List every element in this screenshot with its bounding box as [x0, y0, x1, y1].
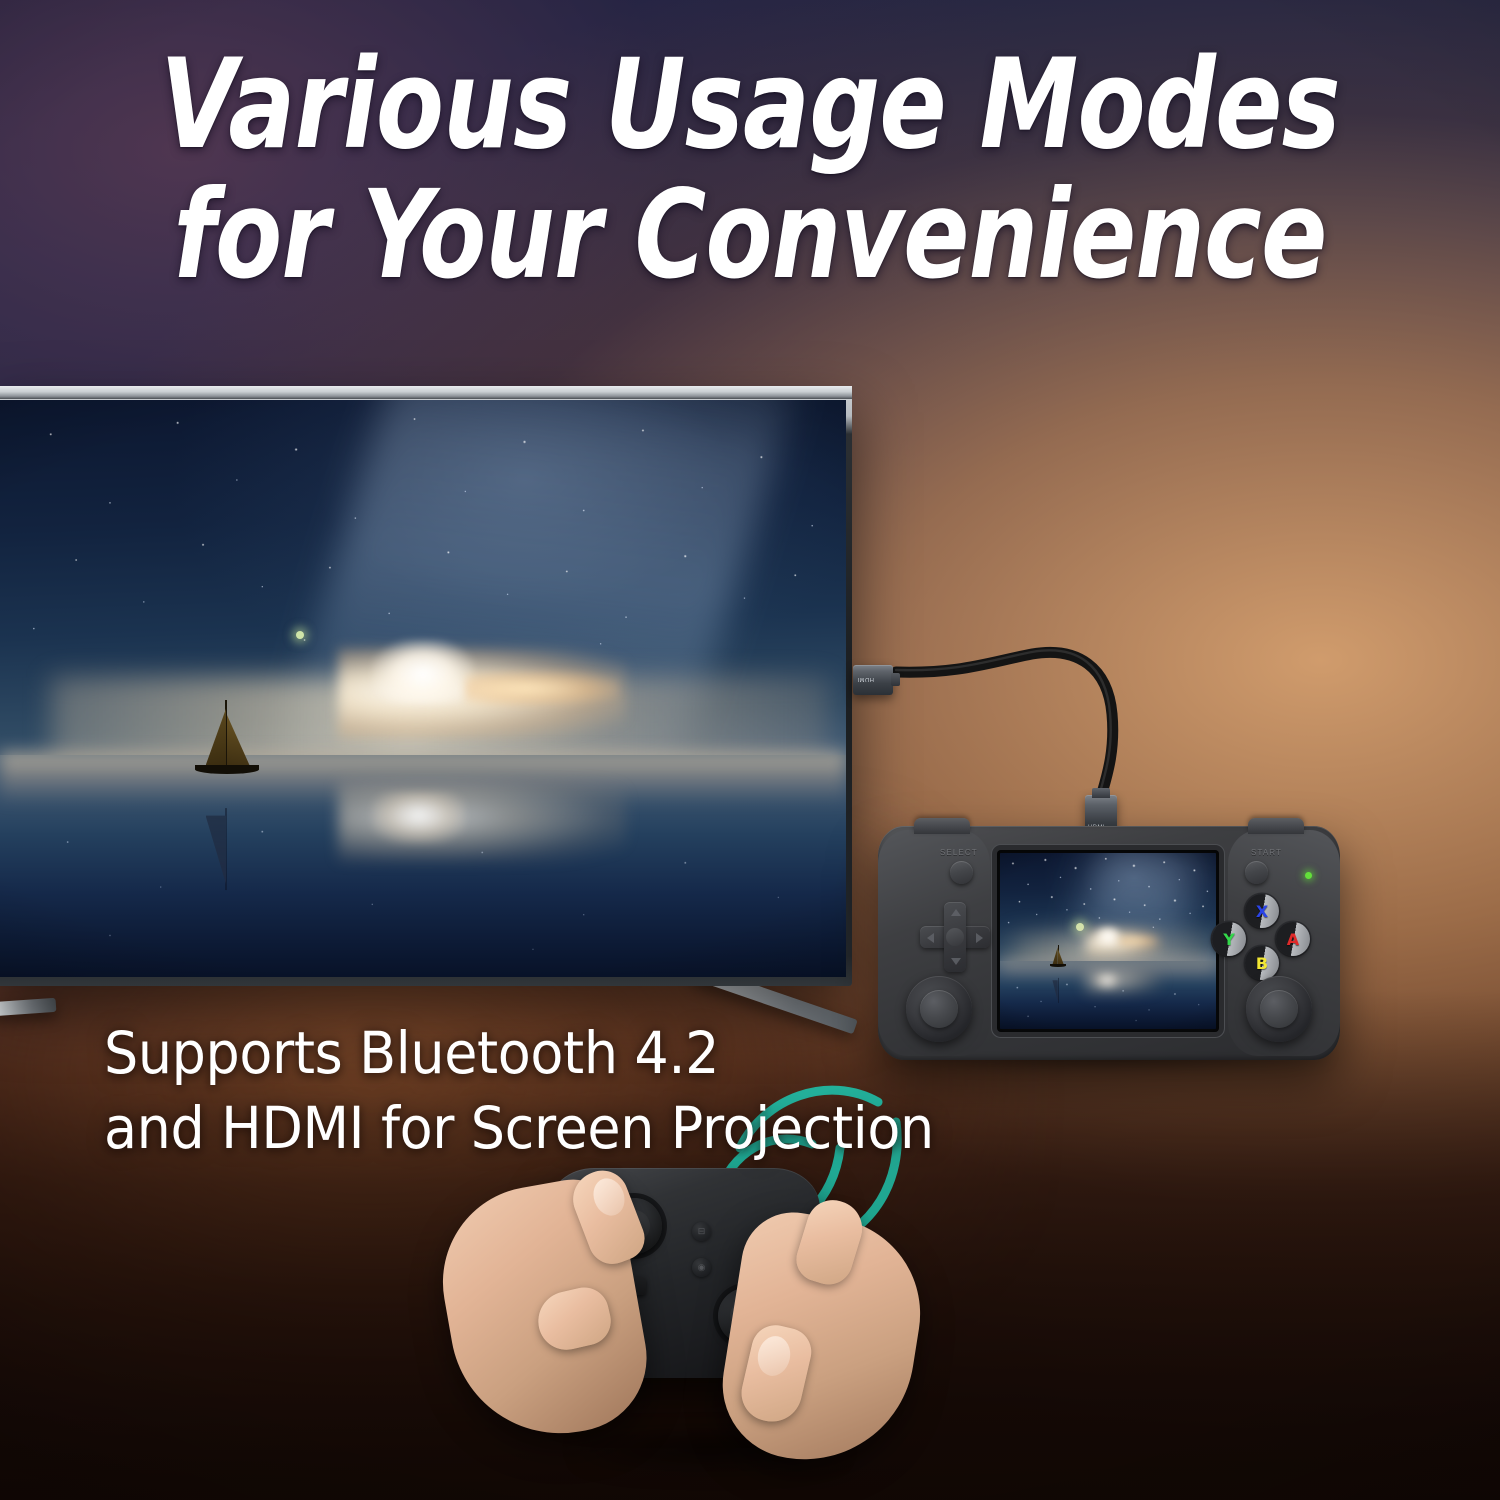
poster-canvas: Various Usage Modes for Your Convenience	[0, 0, 1500, 1500]
dpad-down-arrow-icon	[951, 958, 961, 965]
console-dpad[interactable]	[920, 902, 990, 972]
console-scene-vignette	[1000, 853, 1216, 1029]
console-button-b[interactable]: B	[1245, 946, 1279, 980]
dpad-right-arrow-icon	[976, 933, 983, 943]
tv-top-lip	[0, 386, 852, 399]
dpad-up-arrow-icon	[951, 909, 961, 916]
hdmi-plug-tv-label: HDMI	[857, 676, 874, 682]
console-button-x[interactable]: X	[1245, 894, 1279, 928]
console-button-a[interactable]: A	[1276, 922, 1310, 956]
console-screen	[997, 850, 1219, 1032]
console-face-buttons: X Y A B	[1212, 894, 1310, 980]
dpad-left-arrow-icon	[927, 933, 934, 943]
console-select-button[interactable]	[950, 861, 973, 884]
gamepad-minus-button[interactable]: ⊟	[692, 1222, 711, 1241]
console-shoulder-button-left[interactable]	[914, 818, 970, 834]
console-start-label: START	[1251, 848, 1282, 857]
power-led-indicator	[1305, 872, 1312, 879]
hdmi-plug-tv: HDMI	[853, 665, 893, 695]
scene-vignette	[0, 400, 846, 977]
console-start-button[interactable]	[1245, 861, 1268, 884]
bluetooth-gamepad-in-hands: △ ✕ ○ □ ⊟ ◉ ⊙ ✦	[430, 1140, 930, 1500]
console-button-y[interactable]: Y	[1212, 922, 1246, 956]
gamepad-capture-button[interactable]: ◉	[692, 1258, 711, 1277]
tv-night-sky-scene	[0, 400, 846, 977]
console-night-sky-scene	[1000, 853, 1216, 1029]
tv-screen	[0, 400, 846, 977]
handheld-console: SELECT START X Y A B	[878, 826, 1340, 1060]
console-select-label: SELECT	[940, 848, 978, 857]
console-analog-stick-right[interactable]	[1246, 976, 1312, 1042]
console-analog-stick-left[interactable]	[906, 976, 972, 1042]
television	[0, 386, 852, 986]
console-shoulder-button-right[interactable]	[1248, 818, 1304, 834]
